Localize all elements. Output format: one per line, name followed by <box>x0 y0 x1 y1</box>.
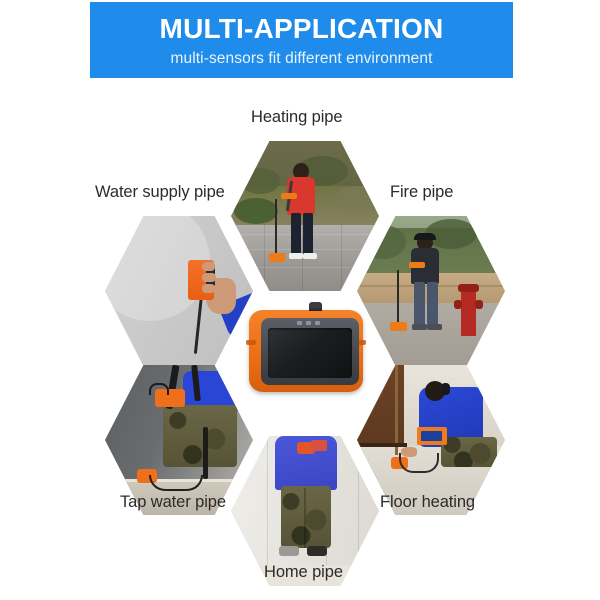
hex-tile-heating-pipe[interactable] <box>231 141 379 291</box>
page-title: MULTI-APPLICATION <box>160 14 444 43</box>
center-product-device[interactable] <box>245 300 367 400</box>
application-hex-diagram: Heating pipe Water supply pipe <box>0 80 600 600</box>
label-fire-pipe: Fire pipe <box>390 183 453 202</box>
device-knob[interactable] <box>309 302 322 311</box>
label-water-supply-pipe: Water supply pipe <box>95 183 225 202</box>
label-heating-pipe: Heating pipe <box>251 108 342 127</box>
hex-tile-water-supply-pipe[interactable] <box>105 216 253 366</box>
device-screen[interactable] <box>268 328 352 378</box>
scene-heating-pipe <box>231 141 379 291</box>
scene-fire-pipe <box>357 216 505 366</box>
label-floor-heating: Floor heating <box>380 493 475 512</box>
page-subtitle: multi-sensors fit different environment <box>170 50 432 68</box>
device-orange-case <box>249 310 363 392</box>
hex-tile-fire-pipe[interactable] <box>357 216 505 366</box>
label-tap-water-pipe: Tap water pipe <box>120 493 226 512</box>
header-banner: MULTI-APPLICATION multi-sensors fit diff… <box>90 2 513 78</box>
device-bezel <box>261 318 359 385</box>
label-home-pipe: Home pipe <box>264 563 343 582</box>
scene-water-supply-pipe <box>105 216 253 366</box>
